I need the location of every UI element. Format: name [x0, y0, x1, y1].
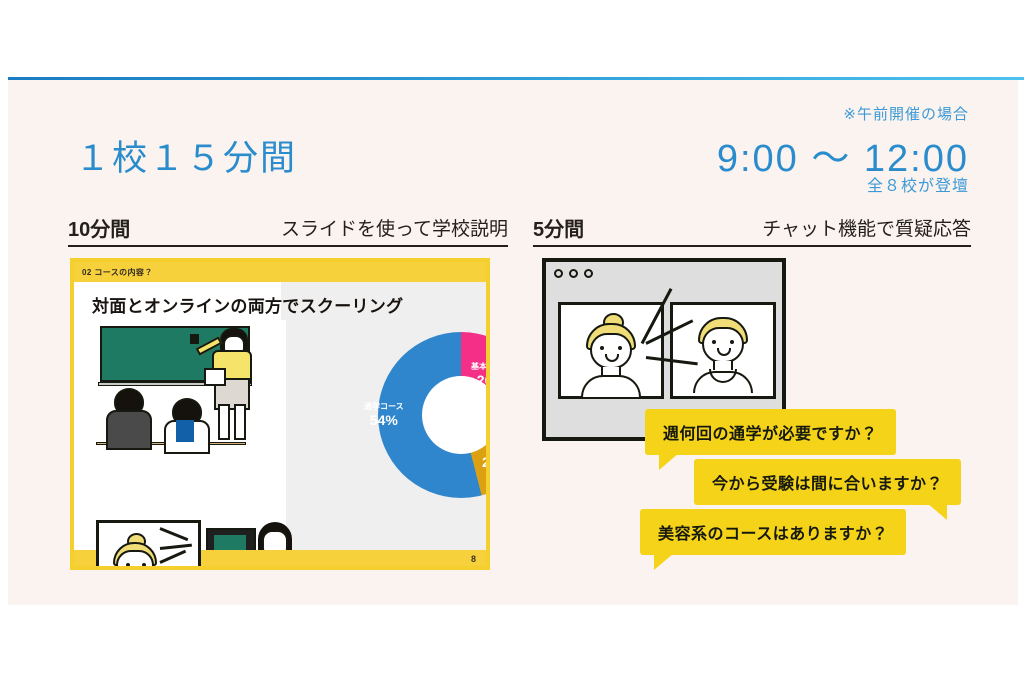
chat-bubble[interactable]: 今から受験は間に合いますか？: [694, 459, 961, 505]
pointer-icon: [190, 334, 199, 344]
student-vest: [176, 420, 194, 442]
student-figure-1: [106, 388, 150, 446]
chat-bubble-text: 週何回の通学が必要ですか？: [663, 426, 878, 443]
avatar-eye-left: [600, 346, 604, 350]
speech-ray-3: [159, 550, 186, 564]
section-underline: [68, 245, 508, 247]
slide-top-bar: 02 コースの内容？: [74, 262, 486, 282]
avatar-shoulders: [581, 375, 641, 397]
book-icon: [204, 368, 226, 386]
donut-chart: 基本コース 26% リモートコース 20% 通学コース 54%: [366, 322, 490, 527]
window-controls[interactable]: [554, 269, 593, 278]
chat-bubble-text: 今から受験は間に合いますか？: [712, 476, 943, 493]
avatar-student: [575, 313, 647, 393]
teacher-leg-right: [234, 404, 246, 440]
avatar-teacher: [687, 313, 759, 393]
speech-ray-1: [159, 527, 188, 541]
speech-ray-2: [160, 544, 192, 550]
student-figure-2: [164, 398, 208, 448]
section-header-qa: 5分間 チャット機能で質疑応答: [533, 213, 971, 247]
slide-title: 対面とオンラインの両方でスクーリング: [92, 292, 403, 317]
face-eye-left: [126, 563, 130, 567]
donut-label-basic: 基本コース 26%: [471, 362, 490, 390]
avatar-face: [702, 327, 744, 363]
chat-bubble[interactable]: 美容系のコースはありますか？: [640, 509, 906, 555]
slide-page-number: 8: [471, 554, 476, 564]
section-header-presentation: 10分間 スライドを使って学校説明: [68, 213, 508, 247]
bubble-tail: [927, 503, 947, 520]
donut-label-remote: リモートコース 20%: [476, 434, 490, 472]
section-description: チャット機能で質疑応答: [762, 214, 971, 241]
donut-label-name: 基本コース: [471, 362, 490, 372]
video-tile-teacher[interactable]: [670, 302, 776, 399]
dot-close-icon[interactable]: [554, 269, 563, 278]
avatar-face: [590, 333, 632, 369]
teacher-leg-left: [218, 404, 230, 440]
section-duration: 10分間: [68, 213, 130, 242]
donut-label-name: リモートコース: [476, 434, 490, 454]
donut-label-value: 54%: [364, 412, 404, 430]
slide-thumbnail[interactable]: 02 コースの内容？ 対面とオンラインの両方でスクーリング: [70, 258, 490, 570]
donut-label-name: 通学コース: [364, 402, 404, 412]
bubble-tail: [654, 553, 674, 570]
page-title: １校１５分間: [75, 130, 297, 181]
section-underline: [533, 245, 971, 247]
donut-label-value: 26%: [471, 372, 490, 390]
slide-canvas: １校１５分間 ※午前開催の場合 9:00 〜 12:00 全８校が登壇 10分間…: [0, 0, 1024, 688]
section-description: スライドを使って学校説明: [281, 214, 508, 241]
dot-minimize-icon[interactable]: [569, 269, 578, 278]
time-note: ※午前開催の場合: [843, 103, 969, 124]
avatar-eye-right: [730, 340, 734, 344]
face-eye-right: [142, 563, 146, 567]
avatar-eye-right: [618, 346, 622, 350]
chat-bubble[interactable]: 週何回の通学が必要ですか？: [645, 409, 896, 455]
school-count-note: 全８校が登壇: [867, 172, 969, 196]
avatar-eye-left: [712, 340, 716, 344]
bubble-tail: [659, 453, 679, 470]
slide-section-label: 02 コースの内容？: [82, 267, 153, 278]
donut-label-value: 20%: [476, 454, 490, 472]
dot-maximize-icon[interactable]: [584, 269, 593, 278]
section-duration: 5分間: [533, 213, 584, 242]
donut-label-commute: 通学コース 54%: [364, 402, 404, 430]
chat-bubble-text: 美容系のコースはありますか？: [658, 526, 888, 543]
speaking-face-box: [96, 520, 201, 570]
classroom-illustration: [88, 320, 286, 548]
video-tile-student[interactable]: [558, 302, 664, 399]
face-shape: [116, 550, 154, 570]
